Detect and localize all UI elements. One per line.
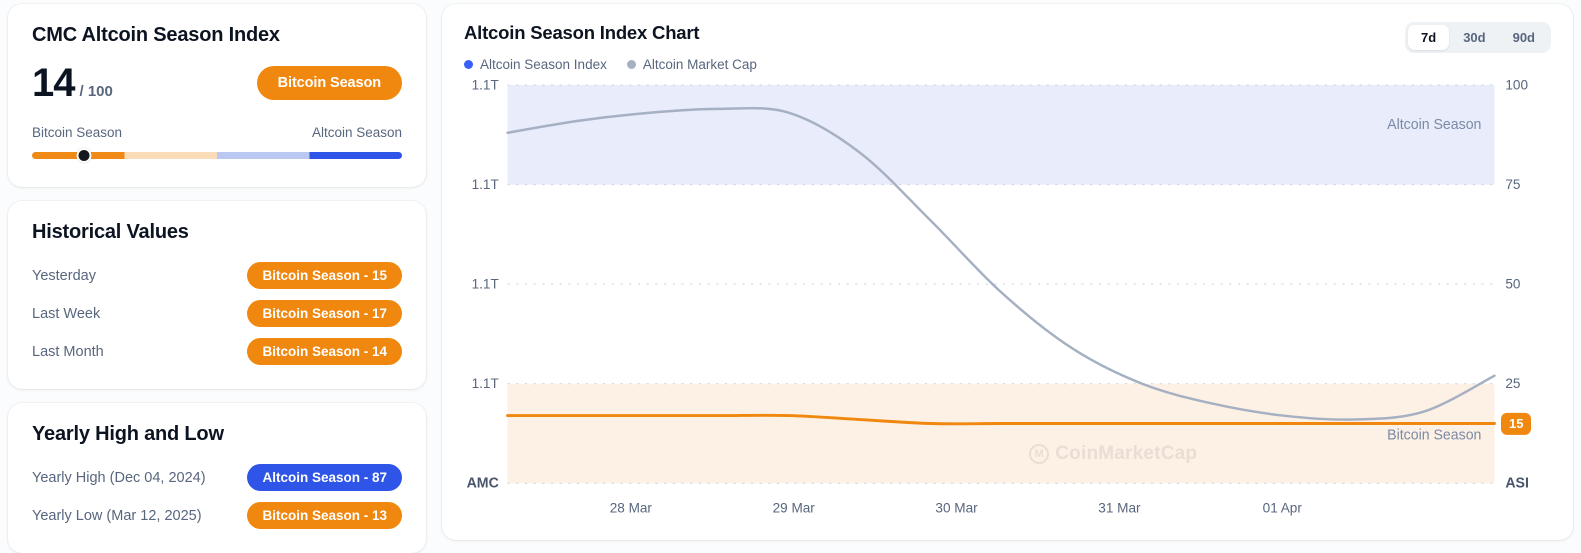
chart-band-altcoin-season bbox=[507, 85, 1494, 185]
y-axis-left-tick: 1.1T bbox=[472, 176, 500, 192]
historical-value-label: Last Month bbox=[32, 344, 104, 360]
y-axis-right-tick: 50 bbox=[1505, 275, 1520, 291]
left-column: CMC Altcoin Season Index 14 / 100 Bitcoi… bbox=[8, 4, 426, 540]
x-axis-tick: 01 Apr bbox=[1263, 499, 1303, 515]
yearly-value-label: Yearly High (Dec 04, 2024) bbox=[32, 470, 206, 486]
y-axis-right-tick: 25 bbox=[1505, 375, 1520, 391]
index-value-group: 14 / 100 bbox=[32, 63, 113, 103]
historical-value-row: Last WeekBitcoin Season - 17 bbox=[32, 300, 402, 327]
legend-item-altcoin-season-index[interactable]: Altcoin Season Index bbox=[464, 57, 607, 72]
scale-label-right: Altcoin Season bbox=[312, 125, 402, 140]
yearly-value-row: Yearly High (Dec 04, 2024)Altcoin Season… bbox=[32, 464, 402, 491]
historical-value-badge[interactable]: Bitcoin Season - 14 bbox=[247, 338, 402, 365]
right-column: Altcoin Season Index Chart Altcoin Seaso… bbox=[442, 4, 1573, 540]
y-axis-left-tick: 1.1T bbox=[472, 275, 500, 291]
legend-item-altcoin-market-cap[interactable]: Altcoin Market Cap bbox=[627, 57, 757, 72]
yearly-value-badge[interactable]: Altcoin Season - 87 bbox=[247, 464, 402, 491]
chart-plot-area[interactable]: Altcoin SeasonBitcoin Season1.1T1.1T1.1T… bbox=[464, 76, 1551, 526]
chart-band-bitcoin-season bbox=[507, 384, 1494, 484]
band-label-altcoin-season: Altcoin Season bbox=[1387, 117, 1481, 133]
legend-dot-icon bbox=[627, 60, 636, 69]
x-axis-tick: 29 Mar bbox=[773, 499, 816, 515]
chart-title: Altcoin Season Index Chart bbox=[464, 22, 757, 44]
historical-value-row: YesterdayBitcoin Season - 15 bbox=[32, 262, 402, 289]
chart-header: Altcoin Season Index Chart Altcoin Seaso… bbox=[464, 22, 1551, 72]
x-axis-tick: 28 Mar bbox=[610, 499, 653, 515]
historical-values-title: Historical Values bbox=[32, 221, 402, 244]
yearly-high-low-title: Yearly High and Low bbox=[32, 423, 402, 446]
y-axis-left-label: AMC bbox=[467, 476, 499, 492]
yearly-high-low-card: Yearly High and Low Yearly High (Dec 04,… bbox=[8, 403, 426, 553]
time-range-toggle[interactable]: 7d30d90d bbox=[1405, 22, 1551, 53]
page-root: CMC Altcoin Season Index 14 / 100 Bitcoi… bbox=[0, 0, 1581, 548]
season-scale[interactable] bbox=[32, 149, 402, 161]
historical-value-badge[interactable]: Bitcoin Season - 15 bbox=[247, 262, 402, 289]
historical-values-rows: YesterdayBitcoin Season - 15Last WeekBit… bbox=[32, 262, 402, 365]
chart-svg: Altcoin SeasonBitcoin Season1.1T1.1T1.1T… bbox=[464, 76, 1551, 526]
yearly-high-low-rows: Yearly High (Dec 04, 2024)Altcoin Season… bbox=[32, 464, 402, 529]
historical-value-badge[interactable]: Bitcoin Season - 17 bbox=[247, 300, 402, 327]
altcoin-season-chart-card: Altcoin Season Index Chart Altcoin Seaso… bbox=[442, 4, 1573, 540]
x-axis-tick: 31 Mar bbox=[1098, 499, 1141, 515]
historical-values-card: Historical Values YesterdayBitcoin Seaso… bbox=[8, 201, 426, 389]
chart-legend: Altcoin Season IndexAltcoin Market Cap bbox=[464, 57, 757, 72]
x-axis-tick: 30 Mar bbox=[935, 499, 978, 515]
yearly-value-label: Yearly Low (Mar 12, 2025) bbox=[32, 508, 202, 524]
altcoin-season-index-card: CMC Altcoin Season Index 14 / 100 Bitcoi… bbox=[8, 4, 426, 187]
index-card-title: CMC Altcoin Season Index bbox=[32, 24, 402, 47]
chart-header-left: Altcoin Season Index Chart Altcoin Seaso… bbox=[464, 22, 757, 72]
scale-labels: Bitcoin Season Altcoin Season bbox=[32, 125, 402, 140]
index-value-row: 14 / 100 Bitcoin Season bbox=[32, 63, 402, 103]
index-denominator: / 100 bbox=[80, 83, 113, 100]
y-axis-right-tick: 100 bbox=[1505, 76, 1528, 92]
scale-label-left: Bitcoin Season bbox=[32, 125, 122, 140]
y-axis-right-tick: 75 bbox=[1505, 176, 1520, 192]
legend-label: Altcoin Market Cap bbox=[643, 57, 757, 72]
band-label-bitcoin-season: Bitcoin Season bbox=[1387, 427, 1481, 443]
season-status-badge[interactable]: Bitcoin Season bbox=[257, 66, 402, 100]
yearly-value-row: Yearly Low (Mar 12, 2025)Bitcoin Season … bbox=[32, 502, 402, 529]
y-axis-right-label: ASI bbox=[1505, 476, 1529, 492]
range-button-30d[interactable]: 30d bbox=[1450, 25, 1498, 50]
season-scale-knob[interactable] bbox=[76, 148, 91, 163]
legend-dot-icon bbox=[464, 60, 473, 69]
y-axis-left-tick: 1.1T bbox=[472, 76, 500, 92]
historical-value-label: Yesterday bbox=[32, 268, 96, 284]
yearly-value-badge[interactable]: Bitcoin Season - 13 bbox=[247, 502, 402, 529]
historical-value-row: Last MonthBitcoin Season - 14 bbox=[32, 338, 402, 365]
index-value: 14 bbox=[32, 63, 75, 103]
range-button-90d[interactable]: 90d bbox=[1500, 25, 1548, 50]
y-axis-left-tick: 1.1T bbox=[472, 375, 500, 391]
legend-label: Altcoin Season Index bbox=[480, 57, 607, 72]
current-value-badge: 15 bbox=[1501, 412, 1531, 434]
range-button-7d[interactable]: 7d bbox=[1408, 25, 1449, 50]
historical-value-label: Last Week bbox=[32, 306, 100, 322]
